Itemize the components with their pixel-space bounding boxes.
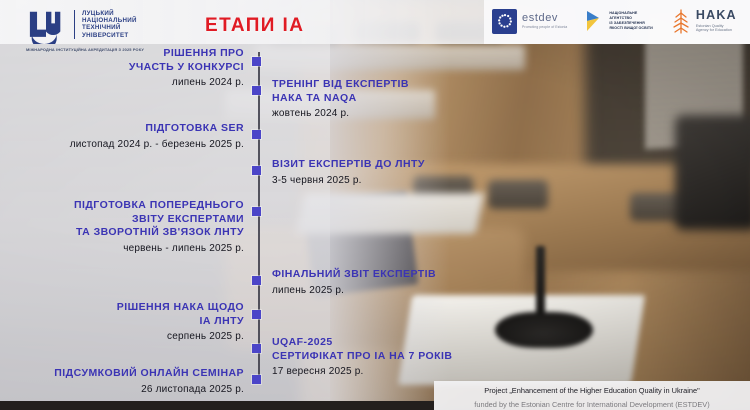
university-name-block: ЛУЦЬКИЙ НАЦІОНАЛЬНИЙ ТЕХНІЧНИЙ УНІВЕРСИТ… — [74, 10, 137, 39]
nazyavo-name-line-2: АГЕНТСТВО — [609, 16, 653, 20]
logo-estdev: estdev Promoting people of Estonia — [492, 9, 567, 34]
university-name-line-4: УНІВЕРСИТЕТ — [82, 32, 137, 39]
haka-name: HAKA — [696, 9, 737, 22]
page-title: ЕТАПИ ІА — [205, 15, 304, 37]
logo-nazyavo: НАЦІОНАЛЬНЕ АГЕНТСТВО ІЗ ЗАБЕЗПЕЧЕННЯ ЯК… — [585, 9, 653, 33]
timeline-item-5-headline-line-2: ЗВІТУ ЕКСПЕРТАМИ — [22, 213, 244, 227]
timeline-item-7-headline-line-1: РІШЕННЯ НАКА ЩОДО — [40, 301, 244, 315]
timeline-item-8-headline-line-2: СЕРТИФІКАТ ПРО ІА НА 7 РОКІВ — [272, 350, 517, 364]
timeline-item-7[interactable]: РІШЕННЯ НАКА ЩОДО ІА ЛНТУ серпень 2025 р… — [40, 301, 244, 342]
timeline-item-9[interactable]: ПІДСУМКОВИЙ ОНЛАЙН СЕМІНАР 26 листопада … — [24, 367, 244, 395]
nazyavo-flag-icon — [585, 9, 605, 33]
timeline-node-8 — [252, 344, 261, 353]
bottom-strip — [0, 401, 434, 410]
timeline-item-4-date: 3-5 червня 2025 р. — [272, 175, 502, 186]
timeline-item-9-headline-line-1: ПІДСУМКОВИЙ ОНЛАЙН СЕМІНАР — [24, 367, 244, 381]
timeline-axis — [258, 52, 260, 382]
timeline-item-6-date: липень 2025 р. — [272, 285, 502, 296]
timeline-node-5 — [252, 207, 261, 216]
university-logo: ЛУЦЬКИЙ НАЦІОНАЛЬНИЙ ТЕХНІЧНИЙ УНІВЕРСИТ… — [26, 10, 137, 44]
estdev-tagline: Promoting people of Estonia — [522, 26, 567, 29]
timeline-item-1[interactable]: РІШЕННЯ ПРО УЧАСТЬ У КОНКУРСІ липень 202… — [40, 47, 244, 88]
timeline-item-8-date: 17 вересня 2025 р. — [272, 366, 517, 377]
lntu-monogram-icon — [26, 10, 66, 44]
timeline-item-5[interactable]: ПІДГОТОВКА ПОПЕРЕДНЬОГО ЗВІТУ ЕКСПЕРТАМИ… — [22, 199, 244, 254]
nazyavo-name-line-4: ЯКОСТІ ВИЩОЇ ОСВІТИ — [609, 26, 653, 30]
timeline-node-3 — [252, 130, 261, 139]
haka-pine-tree-icon — [671, 8, 691, 34]
nazyavo-name-line-3: ІЗ ЗАБЕЗПЕЧЕННЯ — [609, 21, 653, 25]
estdev-name: estdev — [522, 13, 567, 24]
timeline-item-6-headline-line-1: ФІНАЛЬНИЙ ЗВІТ ЕКСПЕРТІВ — [272, 268, 502, 282]
timeline-item-2[interactable]: ТРЕНІНГ ВІД ЕКСПЕРТІВ НАКА ТА NAQA жовте… — [272, 78, 492, 119]
timeline-item-3-headline-line-1: ПІДГОТОВКА SER — [34, 122, 244, 136]
nazyavo-name-line-1: НАЦІОНАЛЬНЕ — [609, 11, 653, 15]
timeline-item-1-date: липень 2024 р. — [40, 77, 244, 88]
timeline-node-1 — [252, 57, 261, 66]
slide-canvas: ЛУЦЬКИЙ НАЦІОНАЛЬНИЙ ТЕХНІЧНИЙ УНІВЕРСИТ… — [0, 0, 750, 410]
timeline-item-5-date: червень - липень 2025 р. — [22, 243, 244, 254]
partner-logos: estdev Promoting people of Estonia НАЦІО… — [492, 8, 737, 34]
timeline-node-2 — [252, 86, 261, 95]
timeline-item-5-headline-line-3: ТА ЗВОРОТНІЙ ЗВ'ЯЗОК ЛНТУ — [22, 226, 244, 240]
timeline-item-2-headline-line-2: НАКА ТА NAQA — [272, 92, 492, 106]
university-name-line-3: ТЕХНІЧНИЙ — [82, 24, 137, 31]
timeline-item-8-headline-line-1: UQAF-2025 — [272, 336, 517, 350]
haka-tagline-line-2: Agency for Education — [696, 28, 737, 33]
estdev-star-circle-icon — [492, 9, 517, 34]
timeline-item-6[interactable]: ФІНАЛЬНИЙ ЗВІТ ЕКСПЕРТІВ липень 2025 р. — [272, 268, 502, 296]
timeline-item-7-date: серпень 2025 р. — [40, 331, 244, 342]
timeline-node-7 — [252, 310, 261, 319]
project-caption-line-1: Project „Enhancement of the Higher Educa… — [434, 381, 750, 395]
timeline-item-3-date: листопад 2024 р. - березень 2025 р. — [34, 139, 244, 150]
timeline-node-4 — [252, 166, 261, 175]
timeline-item-3[interactable]: ПІДГОТОВКА SER листопад 2024 р. - березе… — [34, 122, 244, 150]
timeline-item-1-headline-line-2: УЧАСТЬ У КОНКУРСІ — [40, 61, 244, 75]
project-caption: Project „Enhancement of the Higher Educa… — [434, 381, 750, 410]
timeline-item-2-date: жовтень 2024 р. — [272, 108, 492, 119]
timeline-item-4[interactable]: ВІЗИТ ЕКСПЕРТІВ ДО ЛНТУ 3-5 червня 2025 … — [272, 158, 502, 186]
timeline-node-6 — [252, 276, 261, 285]
timeline-item-8[interactable]: UQAF-2025 СЕРТИФІКАТ ПРО ІА НА 7 РОКІВ 1… — [272, 336, 517, 377]
timeline-item-9-date: 26 листопада 2025 р. — [24, 384, 244, 395]
timeline-node-9 — [252, 375, 261, 384]
timeline-item-4-headline-line-1: ВІЗИТ ЕКСПЕРТІВ ДО ЛНТУ — [272, 158, 502, 172]
timeline-item-1-headline-line-1: РІШЕННЯ ПРО — [40, 47, 244, 61]
project-caption-line-2: funded by the Estonian Centre for Intern… — [434, 395, 750, 409]
timeline-item-2-headline-line-1: ТРЕНІНГ ВІД ЕКСПЕРТІВ — [272, 78, 492, 92]
timeline-item-5-headline-line-1: ПІДГОТОВКА ПОПЕРЕДНЬОГО — [22, 199, 244, 213]
timeline-item-7-headline-line-2: ІА ЛНТУ — [40, 315, 244, 329]
logo-haka: HAKA Estonian Quality Agency for Educati… — [671, 8, 737, 34]
